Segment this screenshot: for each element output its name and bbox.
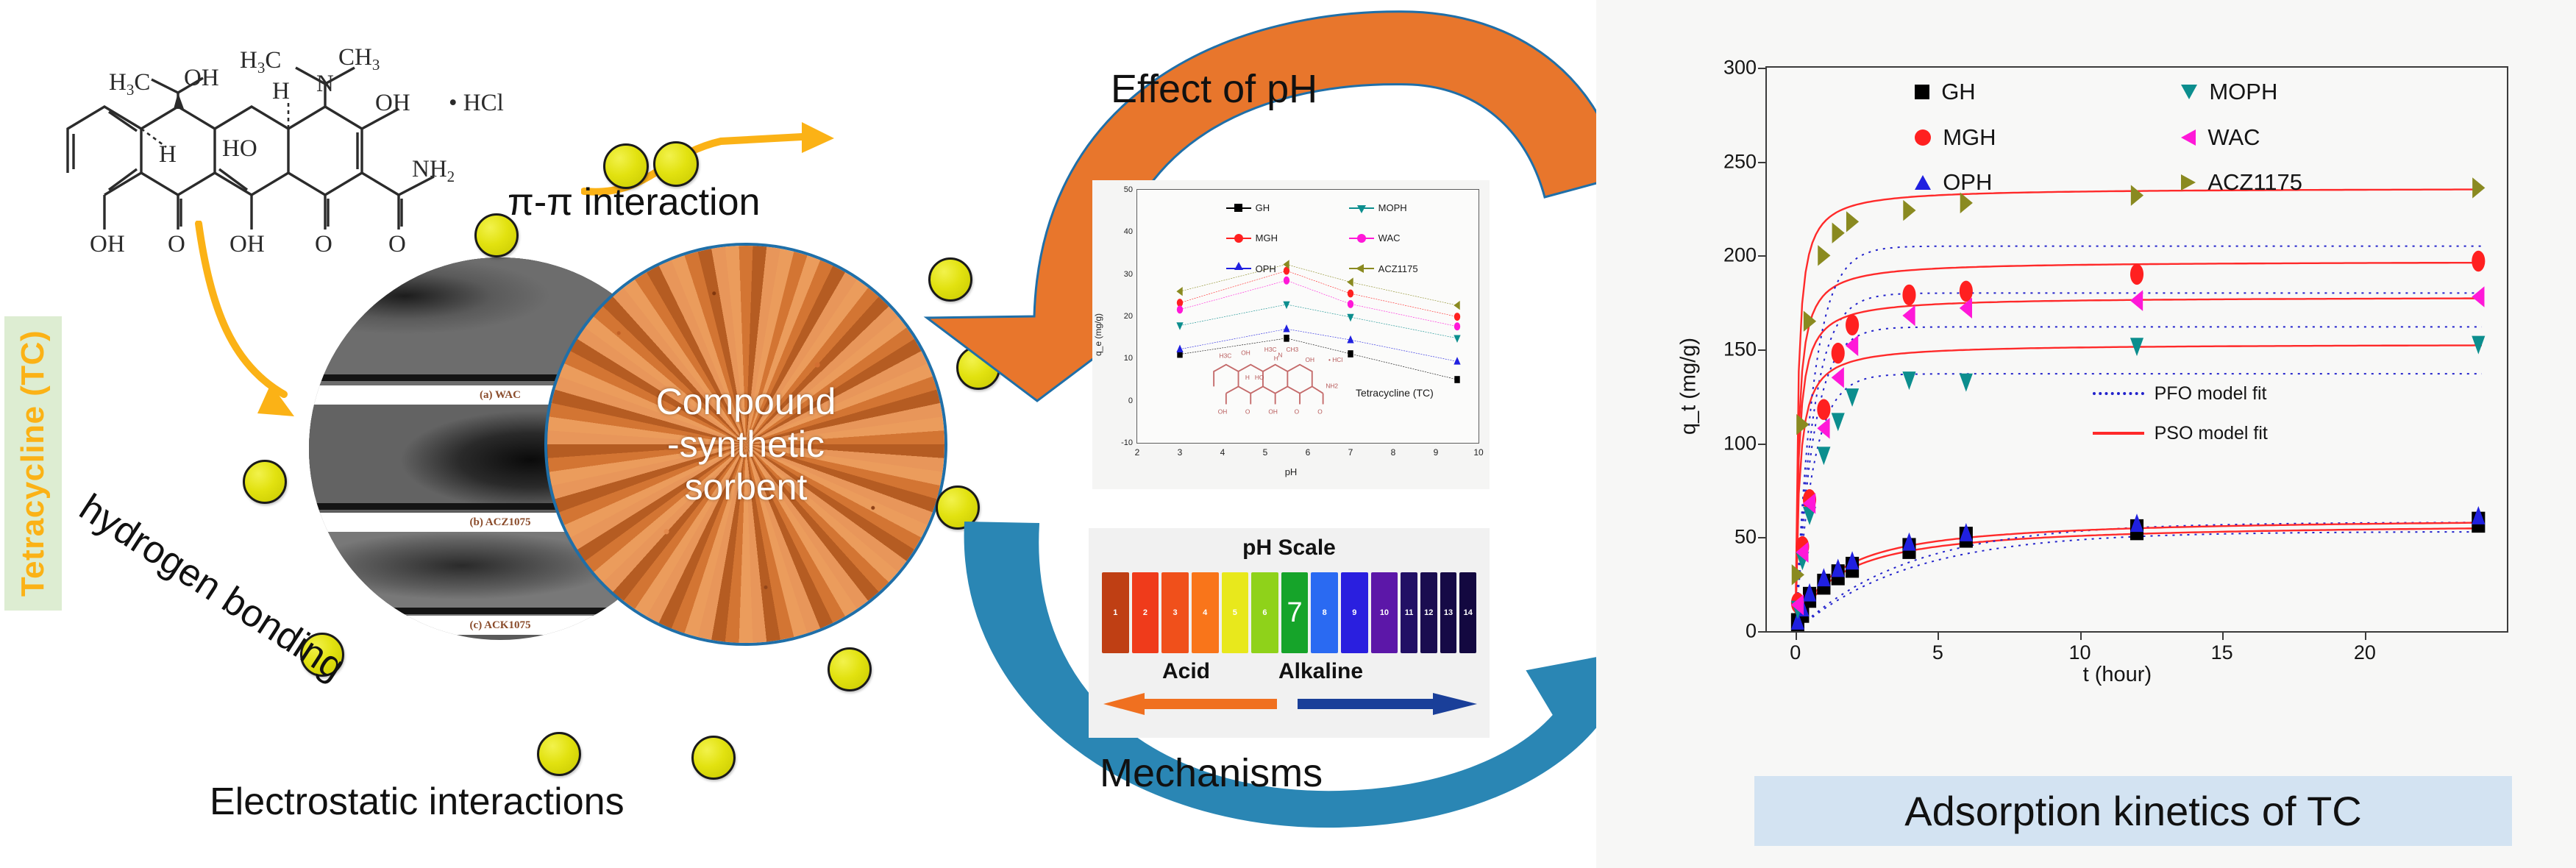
kinetics-legend-pso: PSO model fit	[2093, 423, 2268, 444]
ph-ytick: 50	[1124, 185, 1137, 194]
kinetics-panel: GH MGH OPH MOPH WAC ACZ1175 PFO model fi…	[1596, 0, 2576, 868]
svg-text:H: H	[1274, 355, 1278, 363]
ph-bar-8: 8	[1311, 572, 1338, 653]
tc-label-text: Tetracycline (TC)	[15, 330, 51, 597]
kinetics-legend-label: WAC	[2207, 124, 2260, 151]
kinetics-caption-text: Adsorption kinetics of TC	[1904, 787, 2361, 835]
ph-legend-moph: MOPH	[1349, 202, 1407, 213]
svg-text:H: H	[159, 141, 177, 168]
sorbent-line-2: -synthetic	[667, 423, 825, 466]
tetracycline-vertical-label: Tetracycline (TC)	[4, 316, 62, 611]
svg-text:NH2: NH2	[1326, 383, 1338, 390]
ph-bar-9: 9	[1341, 572, 1368, 653]
tc-molecule-dot	[537, 732, 581, 776]
alkaline-label: Alkaline	[1278, 659, 1363, 684]
svg-text:O: O	[1245, 408, 1250, 416]
effect-of-ph-label: Effect of pH	[1111, 66, 1317, 112]
ph-ytick: 0	[1128, 396, 1137, 405]
ph-legend-label: GH	[1256, 202, 1270, 213]
ph-bar-1: 1	[1102, 572, 1129, 653]
sorbent-line-1: Compound	[656, 380, 836, 423]
kinetics-ylabel: q_t (mg/g)	[1677, 320, 1701, 452]
kinetics-legend-gh: GH	[1915, 79, 1976, 105]
svg-text:O: O	[1317, 408, 1323, 416]
svg-text:H: H	[1245, 374, 1250, 382]
kinetics-series	[1767, 68, 2507, 631]
svg-text:H3C: H3C	[1264, 346, 1277, 353]
ph-scale-bars: 1234567891011121314	[1102, 572, 1476, 653]
svg-text:HO: HO	[222, 135, 257, 162]
tc-molecule-dot	[243, 460, 287, 504]
svg-text:O: O	[168, 231, 185, 257]
ph-ytick: 40	[1124, 227, 1137, 236]
svg-text:OH: OH	[184, 65, 219, 91]
adsorption-kinetics-chart: GH MGH OPH MOPH WAC ACZ1175 PFO model fi…	[1670, 44, 2530, 728]
ph-xtick: 8	[1391, 443, 1396, 458]
svg-text:H: H	[272, 78, 290, 104]
ph-effect-chart: 50 40 30 20 10 0 -10 2 3 4 5 6 7 8 9 10	[1092, 180, 1490, 489]
ph-bar-7: 7	[1281, 572, 1309, 653]
ph-bar-6: 6	[1251, 572, 1278, 653]
ph-effect-plot-area: 50 40 30 20 10 0 -10 2 3 4 5 6 7 8 9 10	[1136, 189, 1479, 444]
ph-xtick: 2	[1135, 443, 1140, 458]
ph-bar-5: 5	[1222, 572, 1249, 653]
kinetics-legend-label: ACZ1175	[2207, 169, 2302, 196]
svg-text:OH: OH	[1305, 356, 1314, 363]
svg-text:O: O	[1294, 408, 1299, 416]
ph-bar-4: 4	[1192, 572, 1219, 653]
svg-text:• HCl: • HCl	[1328, 356, 1342, 363]
alkaline-arrow-icon	[1296, 691, 1480, 716]
mechanism-panel: Tetracycline (TC)	[0, 0, 861, 868]
kinetics-caption: Adsorption kinetics of TC	[1754, 776, 2512, 846]
ph-xtick: 7	[1348, 443, 1353, 458]
kinetics-legend-mgh: MGH	[1915, 124, 1996, 151]
kinetics-xlabel: t (hour)	[2083, 663, 2152, 687]
svg-text:• HCl: • HCl	[449, 90, 504, 116]
ph-xtick: 9	[1434, 443, 1439, 458]
ph-legend-mgh: MGH	[1226, 232, 1278, 243]
ph-legend-label: MOPH	[1378, 202, 1407, 213]
svg-text:OH: OH	[1268, 408, 1278, 416]
acid-label: Acid	[1162, 659, 1210, 684]
kinetics-legend-oph: OPH	[1915, 169, 1992, 196]
kinetics-fit-label: PSO model fit	[2155, 423, 2268, 444]
ph-legend-label: ACZ1175	[1378, 263, 1418, 274]
ph-scale-title: pH Scale	[1089, 536, 1490, 561]
ph-bar-3: 3	[1161, 572, 1189, 653]
ph-legend-wac: WAC	[1349, 232, 1401, 243]
mechanisms-label: Mechanisms	[1100, 750, 1323, 796]
svg-text:OH: OH	[1241, 349, 1250, 357]
kinetics-legend-moph: MOPH	[2181, 79, 2277, 105]
ph-bar-13: 13	[1440, 572, 1457, 653]
kinetics-legend-label: MOPH	[2209, 79, 2277, 105]
kinetics-legend-acz1175: ACZ1175	[2181, 169, 2302, 196]
electrostatic-interactions-label: Electrostatic interactions	[210, 780, 625, 824]
kinetics-legend-pfo: PFO model fit	[2093, 383, 2267, 405]
svg-text:N: N	[316, 71, 334, 97]
ph-xtick: 5	[1263, 443, 1268, 458]
ph-xtick: 4	[1220, 443, 1225, 458]
sorbent-line-3: sorbent	[685, 466, 808, 508]
ph-legend-oph: OPH	[1226, 263, 1276, 274]
svg-text:H3C: H3C	[1219, 352, 1231, 360]
kinetics-legend-label: OPH	[1943, 169, 1992, 196]
ph-xtick: 10	[1473, 443, 1483, 458]
svg-text:NH2: NH2	[412, 156, 455, 185]
ph-bar-11: 11	[1401, 572, 1417, 653]
tetracycline-inset-icon: H3COH H3CCH3N HOH• HCl HOH NH2 OHO OHOO	[1206, 341, 1356, 425]
svg-text:H3C: H3C	[109, 69, 150, 99]
ph-xtick: 3	[1178, 443, 1183, 458]
ph-chart-xlabel: pH	[1285, 466, 1298, 477]
ph-ytick: 20	[1124, 312, 1137, 321]
kinetics-legend-wac: WAC	[2181, 124, 2260, 151]
svg-text:O: O	[388, 231, 406, 257]
kinetics-plot-area: GH MGH OPH MOPH WAC ACZ1175 PFO model fi…	[1765, 66, 2508, 633]
kinetics-fit-label: PFO model fit	[2155, 383, 2267, 405]
ph-legend-label: WAC	[1378, 232, 1401, 243]
ph-legend-acz1175: ACZ1175	[1349, 263, 1418, 274]
kinetics-legend-label: MGH	[1943, 124, 1996, 151]
pi-pi-interaction-label: π-π interaction	[508, 180, 760, 224]
ph-bar-14: 14	[1459, 572, 1476, 653]
svg-text:CH3: CH3	[1286, 346, 1298, 353]
svg-text:N: N	[1278, 352, 1282, 359]
ph-legend-label: OPH	[1256, 263, 1276, 274]
ph-scale-graphic: pH Scale 1234567891011121314 Acid Alkali…	[1089, 528, 1490, 738]
kinetics-legend-label: GH	[1941, 79, 1976, 105]
ph-bar-10: 10	[1371, 572, 1398, 653]
svg-text:H3C: H3C	[240, 47, 281, 77]
acid-arrow-icon	[1102, 691, 1278, 716]
ph-bar-2: 2	[1132, 572, 1159, 653]
svg-text:OH: OH	[90, 231, 125, 257]
ph-ytick: 10	[1124, 354, 1137, 363]
ph-chart-ylabel: q_e (mg/g)	[1093, 305, 1103, 364]
svg-text:OH: OH	[1218, 408, 1228, 416]
svg-text:CH3: CH3	[338, 44, 380, 74]
ph-legend-gh: GH	[1226, 202, 1270, 213]
ph-bar-12: 12	[1420, 572, 1437, 653]
ph-chart-annotation: Tetracycline (TC)	[1356, 387, 1434, 399]
ph-ytick: 30	[1124, 270, 1137, 279]
svg-text:OH: OH	[375, 90, 410, 116]
tc-molecule-dot	[691, 736, 736, 780]
ph-xtick: 6	[1306, 443, 1311, 458]
ph-legend-label: MGH	[1256, 232, 1278, 243]
svg-text:HO: HO	[1255, 374, 1264, 382]
